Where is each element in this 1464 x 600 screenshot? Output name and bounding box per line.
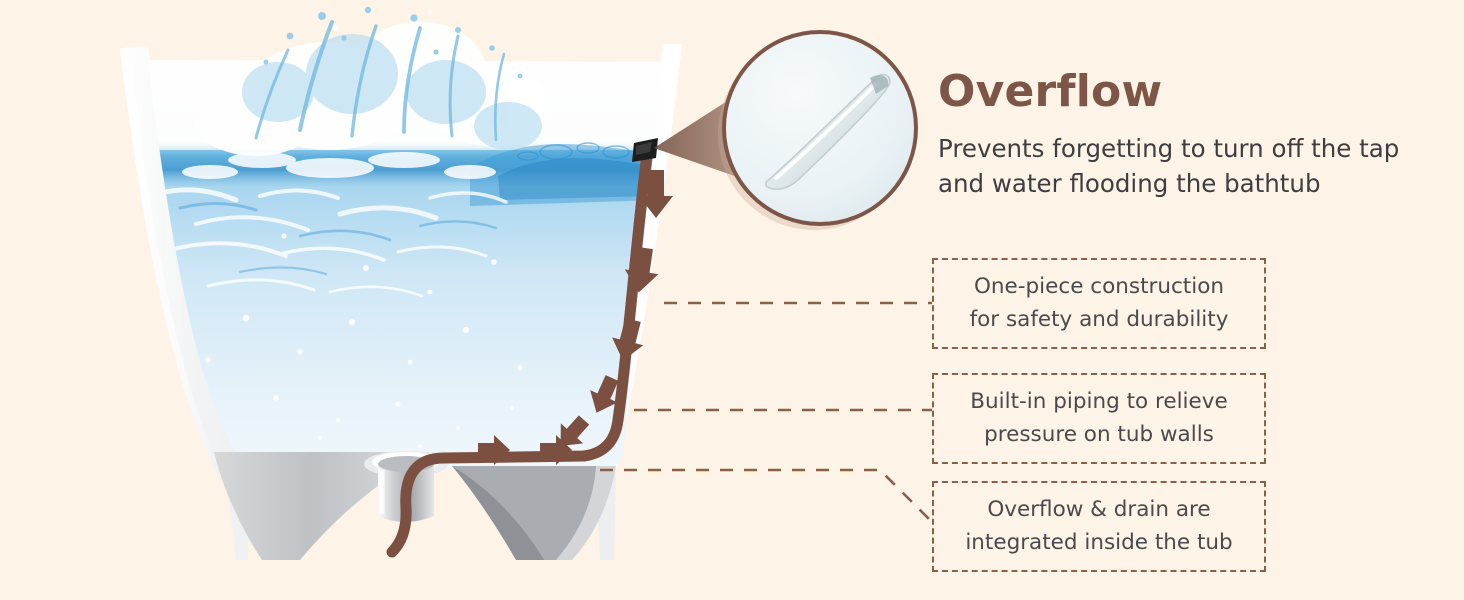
feature-callout-text: Built-in piping to relieve pressure on t… (954, 386, 1243, 451)
feature-callout-overflow-drain[interactable]: Overflow & drain are integrated inside t… (932, 481, 1266, 572)
water-splash (194, 7, 550, 156)
overflow-closeup-circle (718, 32, 916, 230)
feature-callout-one-piece[interactable]: One-piece construction for safety and du… (932, 258, 1266, 349)
feature-callout-text: One-piece construction for safety and du… (954, 271, 1245, 336)
feature-line-2: integrated inside the tub (965, 530, 1232, 555)
feature-callout-built-in-piping[interactable]: Built-in piping to relieve pressure on t… (932, 373, 1266, 464)
feature-line-2: for safety and durability (970, 307, 1229, 332)
infographic-root: Overflow Prevents forgetting to turn off… (0, 0, 1464, 600)
page-subtitle: Prevents forgetting to turn off the tap … (938, 132, 1408, 202)
feature-line-1: Built-in piping to relieve (970, 389, 1227, 414)
page-title: Overflow (938, 69, 1162, 115)
leader-lines (600, 303, 932, 522)
feature-callout-text: Overflow & drain are integrated inside t… (949, 494, 1248, 559)
leader-line-overflow-drain (600, 470, 932, 522)
feature-line-1: Overflow & drain are (987, 497, 1210, 522)
feature-line-1: One-piece construction (974, 274, 1224, 299)
feature-line-2: pressure on tub walls (984, 422, 1214, 447)
